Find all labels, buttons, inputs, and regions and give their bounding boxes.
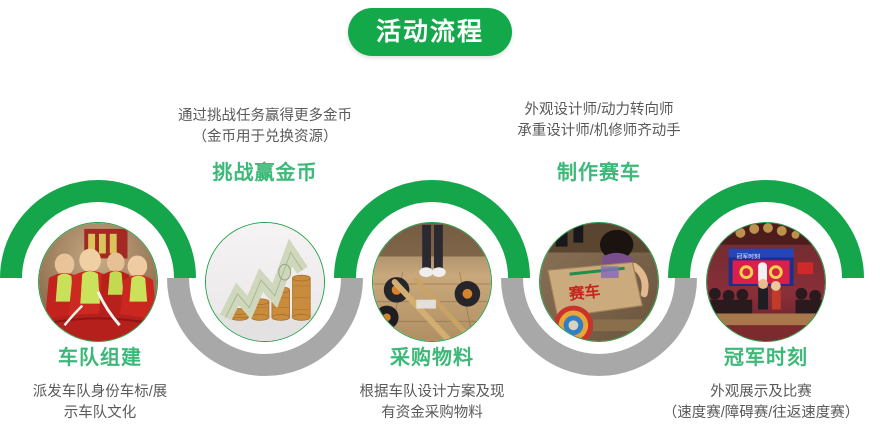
step-desc-5-line-1: 外观展示及比赛 bbox=[636, 382, 880, 403]
step-desc-3: 根据车队设计方案及现 有资金采购物料 bbox=[332, 382, 532, 423]
step-desc-4-line-2: 承重设计师/机修师齐动手 bbox=[474, 121, 724, 142]
step-desc-4-line-1: 外观设计师/动力转向师 bbox=[474, 100, 724, 121]
step-photo-2 bbox=[205, 222, 325, 342]
svg-text:冠军时刻: 冠军时刻 bbox=[737, 252, 761, 260]
step-desc-1-line-1: 派发车队身份车标/展 bbox=[0, 382, 200, 403]
step-title-4: 制作赛车 bbox=[474, 163, 724, 183]
step-photo-5: 冠军时刻 bbox=[706, 222, 826, 342]
step-desc-2-line-1: 通过挑战任务赢得更多金币 bbox=[140, 106, 390, 127]
step-desc-1-line-2: 示车队文化 bbox=[0, 403, 200, 424]
page-title-badge: 活动流程 bbox=[348, 8, 512, 56]
step-photo-3 bbox=[372, 222, 492, 342]
step-desc-5: 外观展示及比赛 （速度赛/障碍赛/往返速度赛） bbox=[636, 382, 880, 423]
champion-moment-photo: 冠军时刻 bbox=[707, 223, 825, 341]
step-title-2: 挑战赢金币 bbox=[140, 163, 390, 183]
activity-flow-infographic: 活动流程 bbox=[0, 0, 880, 445]
step-desc-2-line-2: （金币用于兑换资源） bbox=[140, 127, 390, 148]
step-desc-2: 通过挑战任务赢得更多金币 （金币用于兑换资源） bbox=[140, 106, 390, 147]
step-desc-1: 派发车队身份车标/展 示车队文化 bbox=[0, 382, 200, 423]
page-title: 活动流程 bbox=[376, 20, 484, 45]
step-photo-4: 赛车 bbox=[539, 222, 659, 342]
step-photo-1 bbox=[38, 222, 158, 342]
step-desc-3-line-1: 根据车队设计方案及现 bbox=[332, 382, 532, 403]
step-desc-3-line-2: 有资金采购物料 bbox=[332, 403, 532, 424]
step-desc-5-line-2: （速度赛/障碍赛/往返速度赛） bbox=[636, 403, 880, 424]
coins-growth-photo bbox=[206, 223, 324, 341]
step-title-1: 车队组建 bbox=[0, 348, 200, 368]
step-title-3: 采购物料 bbox=[332, 348, 532, 368]
step-desc-4: 外观设计师/动力转向师 承重设计师/机修师齐动手 bbox=[474, 100, 724, 141]
team-building-photo bbox=[39, 223, 157, 341]
materials-photo bbox=[373, 223, 491, 341]
build-car-photo: 赛车 bbox=[540, 223, 658, 341]
step-title-5: 冠军时刻 bbox=[646, 348, 880, 368]
